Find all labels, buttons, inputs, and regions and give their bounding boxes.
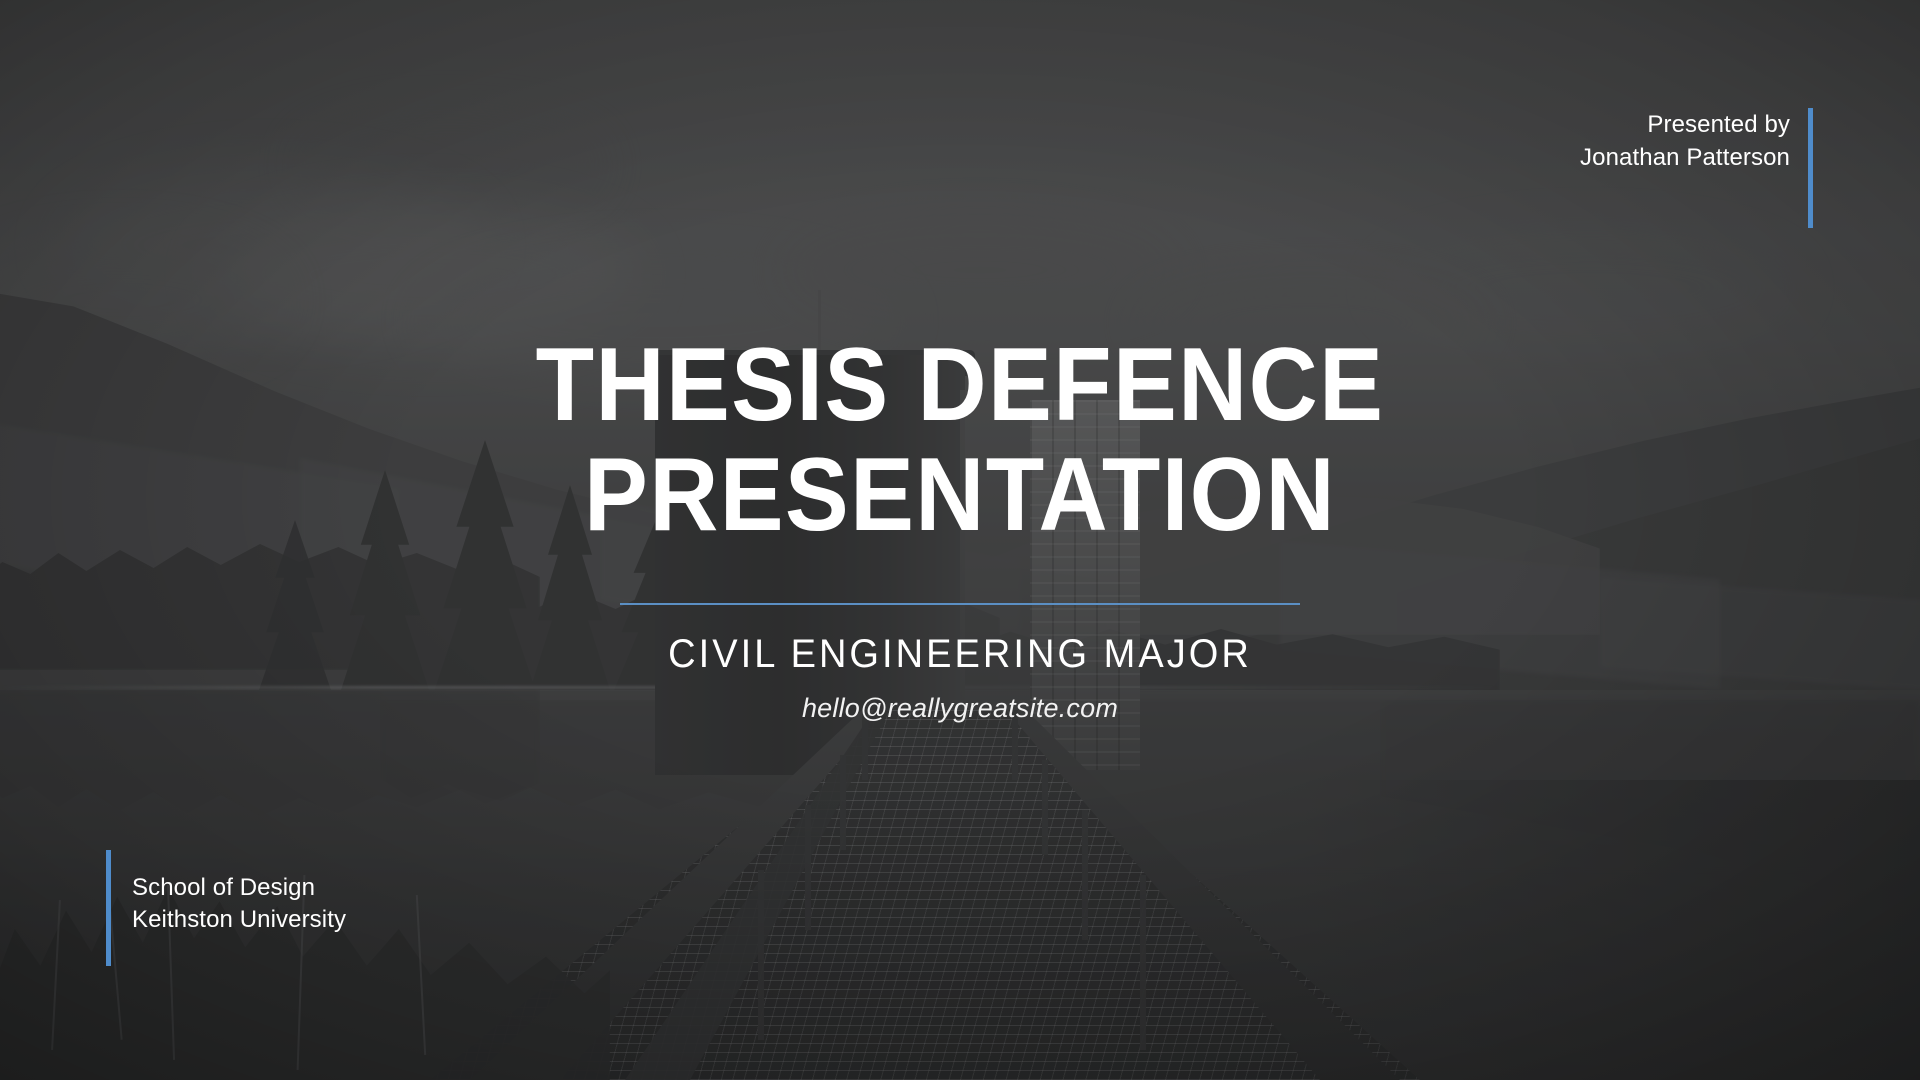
presentation-slide: Presented by Jonathan Patterson THESIS D… [0,0,1920,1080]
presented-by-label: Presented by [1580,108,1790,141]
contact-email: hello@reallygreatsite.com [0,690,1920,726]
school-name: School of Design [132,872,346,904]
title-line-1: THESIS DEFENCE [77,330,1843,440]
university-name: Keithston University [132,904,346,936]
title-divider-line [620,603,1300,605]
presenter-block: Presented by Jonathan Patterson [1580,108,1790,174]
accent-bar-bottom-left [106,850,111,966]
slide-subtitle: CIVIL ENGINEERING MAJOR [48,628,1872,680]
title-line-2: PRESENTATION [77,440,1843,550]
school-block: School of Design Keithston University [132,872,346,936]
presenter-name: Jonathan Patterson [1580,141,1790,174]
slide-title: THESIS DEFENCE PRESENTATION [77,330,1843,550]
accent-bar-top-right [1808,108,1813,228]
slide-content: Presented by Jonathan Patterson THESIS D… [0,0,1920,1080]
